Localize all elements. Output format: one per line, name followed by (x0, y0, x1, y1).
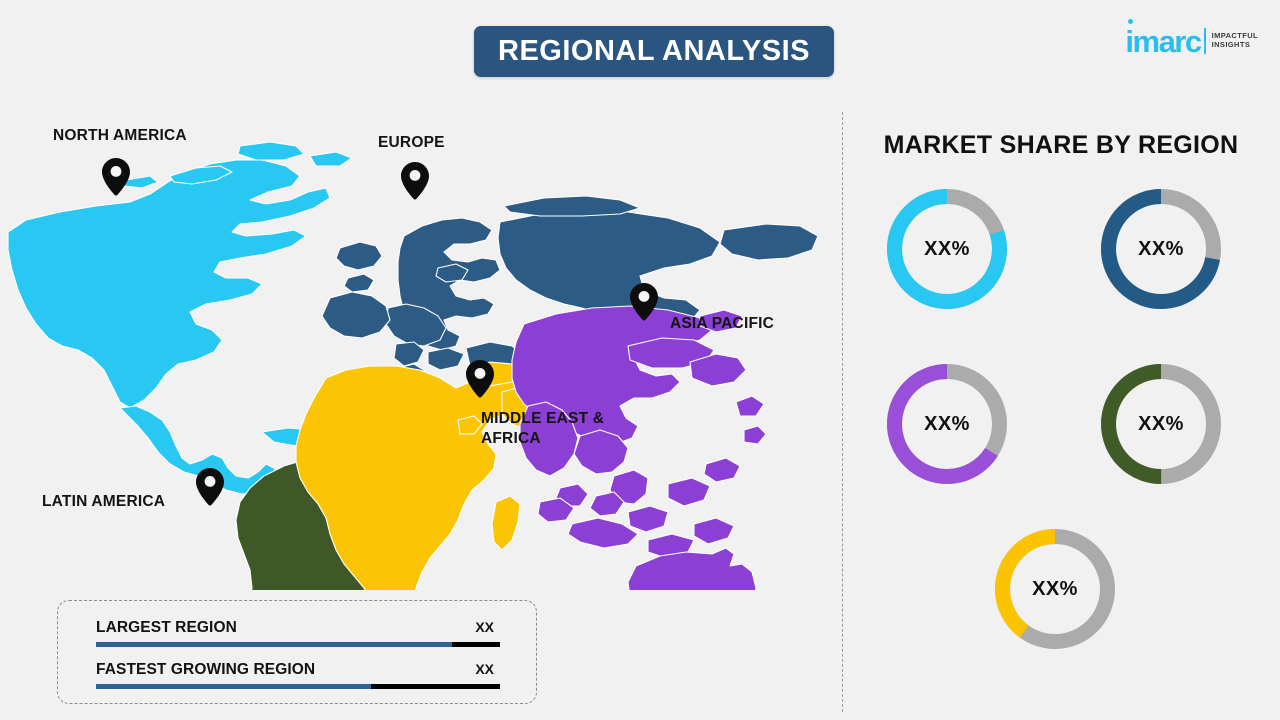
region-label-europe: EUROPE (378, 133, 445, 153)
legend-row-value: XX (475, 619, 500, 635)
legend-row-value: XX (475, 661, 500, 677)
donut-chart-1: XX% (1097, 185, 1225, 313)
map-region-europe (504, 196, 640, 216)
legend-row-label: FASTEST GROWING REGION (96, 661, 315, 679)
logo-divider (1204, 28, 1206, 54)
region-label-north-america: NORTH AMERICA (53, 126, 187, 146)
legend-row-label: LARGEST REGION (96, 619, 237, 637)
map-region-europe (720, 224, 818, 260)
map-region-north-america (310, 152, 352, 166)
map-pin-icon-latin-america[interactable] (196, 468, 224, 506)
map-pin-icon-north-america[interactable] (102, 158, 130, 196)
logo-wordmark-text: imarc (1125, 24, 1200, 59)
map-pin-icon-asia-pacific[interactable] (630, 283, 658, 321)
legend-progress-fill (96, 684, 371, 689)
donut-chart-2: XX% (883, 360, 1011, 488)
map-region-asia-pacific (628, 548, 756, 590)
map-region-asia-pacific (736, 396, 764, 416)
region-label-latin-america: LATIN AMERICA (42, 492, 165, 512)
logo-tagline: IMPACTFUL INSIGHTS (1212, 32, 1258, 49)
legend-row: LARGEST REGION XX (96, 619, 500, 647)
map-region-asia-pacific (568, 518, 638, 548)
map-region-asia-pacific (668, 478, 710, 506)
region-label-asia-pacific: ASIA PACIFIC (670, 314, 774, 334)
section-divider (842, 112, 843, 712)
map-region-middle-east-africa (492, 496, 520, 550)
map-region-europe (344, 274, 374, 292)
map-region-north-america (8, 160, 330, 408)
panel-title: MARKET SHARE BY REGION (842, 131, 1280, 160)
map-region-asia-pacific (704, 458, 740, 482)
imarc-logo: imarc IMPACTFUL INSIGHTS (1125, 24, 1258, 58)
legend-progress-track (96, 684, 500, 689)
map-region-asia-pacific (744, 426, 766, 444)
donut-value-label: XX% (1097, 185, 1225, 313)
summary-legend-box: LARGEST REGION XX FASTEST GROWING REGION… (57, 600, 537, 704)
donut-value-label: XX% (991, 525, 1119, 653)
page-title: REGIONAL ANALYSIS (474, 26, 834, 77)
legend-row: FASTEST GROWING REGION XX (96, 661, 500, 689)
donut-value-label: XX% (1097, 360, 1225, 488)
map-pin-icon-europe[interactable] (401, 162, 429, 200)
logo-wordmark: imarc (1125, 26, 1200, 57)
donut-chart-4: XX% (991, 525, 1119, 653)
logo-tagline-line2: INSIGHTS (1212, 41, 1258, 50)
map-region-europe (428, 348, 464, 370)
donut-value-label: XX% (883, 360, 1011, 488)
region-label-middle-east-africa: MIDDLE EAST & AFRICA (481, 409, 604, 449)
donut-chart-0: XX% (883, 185, 1011, 313)
legend-progress-track (96, 642, 500, 647)
map-region-asia-pacific (628, 506, 668, 532)
map-pin-icon-middle-east-africa[interactable] (466, 360, 494, 398)
map-region-asia-pacific (694, 518, 734, 544)
infographic-canvas: REGIONAL ANALYSIS imarc IMPACTFUL INSIGH… (0, 0, 1280, 720)
map-region-north-america (238, 142, 304, 160)
page-title-text: REGIONAL ANALYSIS (498, 35, 810, 68)
logo-dot-icon (1128, 19, 1133, 24)
donut-chart-3: XX% (1097, 360, 1225, 488)
legend-progress-fill (96, 642, 452, 647)
map-region-europe (322, 292, 390, 338)
donut-value-label: XX% (883, 185, 1011, 313)
map-region-europe (336, 242, 382, 270)
